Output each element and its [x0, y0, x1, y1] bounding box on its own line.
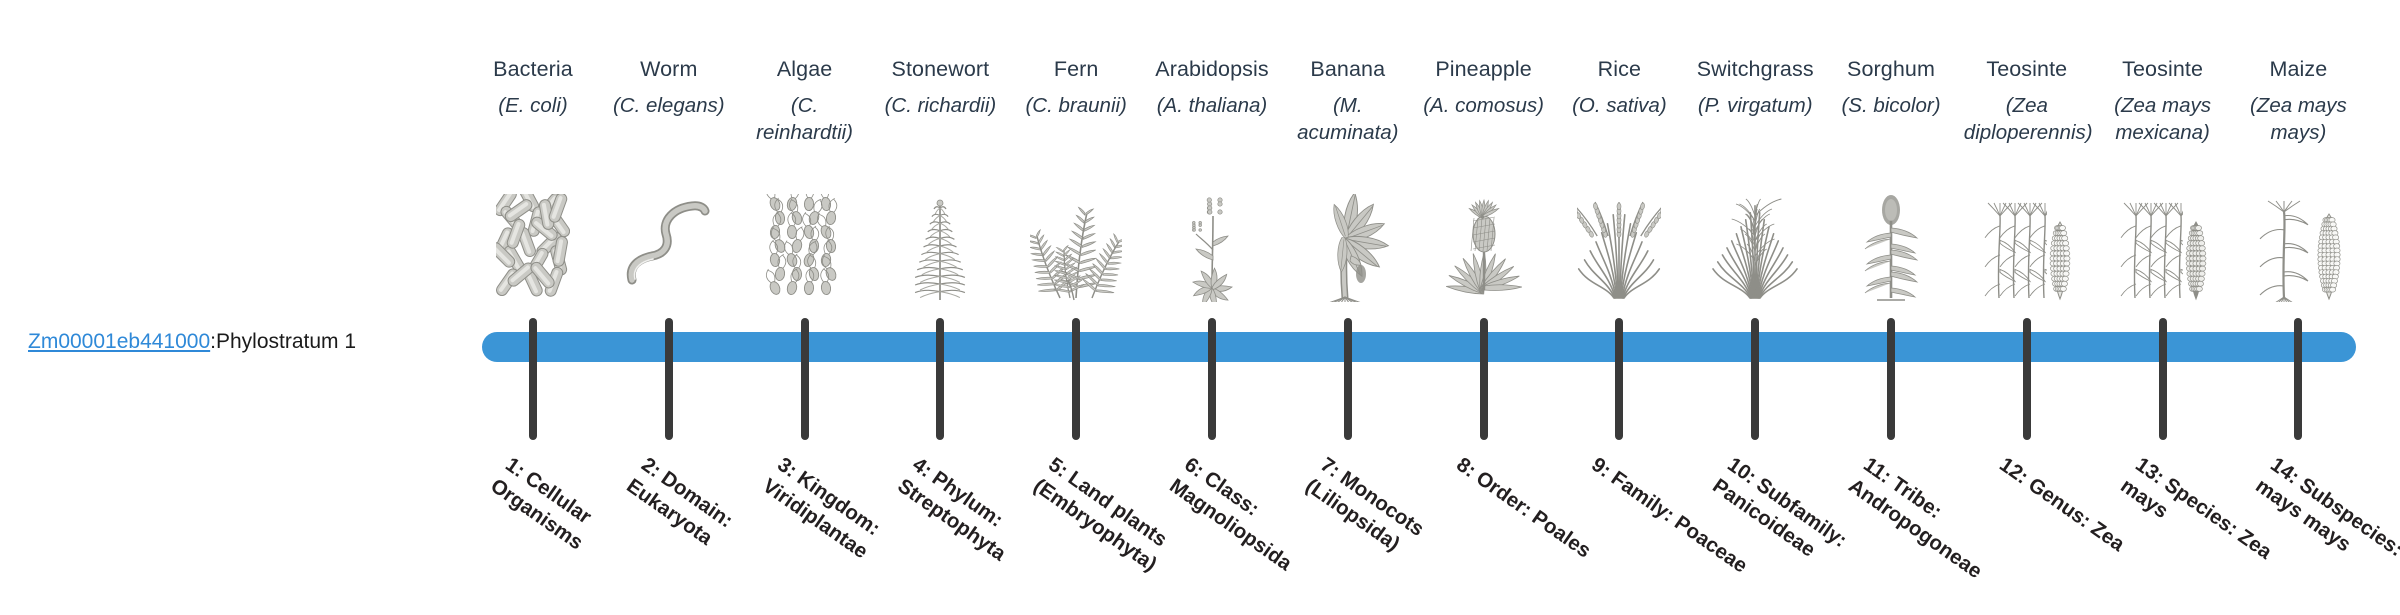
species-column-maize-13: Maize(Zea mays mays) [2235, 54, 2361, 146]
species-common-name: Banana [1285, 54, 1411, 84]
timeline-tick-8[interactable] [1480, 318, 1488, 440]
species-common-name: Worm [606, 54, 732, 84]
species-column-worm-1: Worm(C. elegans) [606, 54, 732, 119]
species-column-banana-6: Banana(M. acuminata) [1285, 54, 1411, 146]
timeline-tick-11[interactable] [1887, 318, 1895, 440]
organism-illustration-row [466, 172, 2366, 302]
teosinte-mexicana-illustration [2100, 172, 2226, 302]
species-scientific-name: (P. virgatum) [1692, 92, 1818, 119]
timeline-tick-10[interactable] [1751, 318, 1759, 440]
timeline-tick-14[interactable] [2294, 318, 2302, 440]
species-scientific-name: (C. elegans) [606, 92, 732, 119]
species-common-name: Stonewort [877, 54, 1003, 84]
species-common-name: Teosinte [1964, 54, 2090, 84]
species-common-name: Rice [1556, 54, 1682, 84]
worm-illustration [606, 172, 732, 302]
gene-id-link[interactable]: Zm00001eb441000 [28, 330, 210, 354]
timeline-tick-9[interactable] [1615, 318, 1623, 440]
species-column-pineapple-7: Pineapple(A. comosus) [1421, 54, 1547, 119]
stonewort-illustration [877, 172, 1003, 302]
sorghum-illustration [1828, 172, 1954, 302]
rice-illustration [1556, 172, 1682, 302]
bacteria-illustration [470, 172, 596, 302]
species-scientific-name: (O. sativa) [1556, 92, 1682, 119]
species-common-name: Algae [742, 54, 868, 84]
phylostratum-value: Phylostratum 1 [216, 330, 356, 354]
species-common-name: Pineapple [1421, 54, 1547, 84]
arabidopsis-illustration [1149, 172, 1275, 302]
species-column-sorghum-10: Sorghum(S. bicolor) [1828, 54, 1954, 119]
timeline-tick-7[interactable] [1344, 318, 1352, 440]
species-column-algae-2: Algae(C. reinhardtii) [742, 54, 868, 146]
timeline-tick-12[interactable] [2023, 318, 2031, 440]
species-common-name: Switchgrass [1692, 54, 1818, 84]
switchgrass-illustration [1692, 172, 1818, 302]
species-common-name: Teosinte [2100, 54, 2226, 84]
species-scientific-name: (A. thaliana) [1149, 92, 1275, 119]
species-scientific-name: (C. richardii) [877, 92, 1003, 119]
species-common-name: Sorghum [1828, 54, 1954, 84]
species-column-bacteria-0: Bacteria(E. coli) [470, 54, 596, 119]
species-column-stonewort-3: Stonewort(C. richardii) [877, 54, 1003, 119]
pineapple-illustration [1421, 172, 1547, 302]
timeline-tick-5[interactable] [1072, 318, 1080, 440]
teosinte-diploperennis-illustration [1964, 172, 2090, 302]
fern-illustration [1013, 172, 1139, 302]
species-scientific-name: (E. coli) [470, 92, 596, 119]
phylostratum-timeline-bar[interactable] [482, 332, 2356, 362]
phylostratum-figure: Zm00001eb441000: Phylostratum 1 Bacteria… [0, 0, 2400, 580]
timeline-tick-4[interactable] [936, 318, 944, 440]
species-scientific-name: (M. acuminata) [1285, 92, 1411, 146]
species-column-teosinte-12: Teosinte(Zea mays mexicana) [2100, 54, 2226, 146]
species-scientific-name: (C. reinhardtii) [742, 92, 868, 146]
timeline-tick-13[interactable] [2159, 318, 2167, 440]
species-common-name: Arabidopsis [1149, 54, 1275, 84]
species-column-teosinte-11: Teosinte(Zea diploperennis) [1964, 54, 2090, 146]
timeline-tick-1[interactable] [529, 318, 537, 440]
species-scientific-name: (A. comosus) [1421, 92, 1547, 119]
species-common-name: Maize [2235, 54, 2361, 84]
species-header-row: Bacteria(E. coli)Worm(C. elegans)Algae(C… [466, 54, 2366, 174]
species-column-rice-8: Rice(O. sativa) [1556, 54, 1682, 119]
species-scientific-name: (Zea mays mays) [2235, 92, 2361, 146]
species-column-switchgrass-9: Switchgrass(P. virgatum) [1692, 54, 1818, 119]
species-scientific-name: (Zea mays mexicana) [2100, 92, 2226, 146]
species-column-arabidopsis-5: Arabidopsis(A. thaliana) [1149, 54, 1275, 119]
maize-illustration [2235, 172, 2361, 302]
algae-illustration [742, 172, 868, 302]
timeline-tick-2[interactable] [665, 318, 673, 440]
gene-phylostratum-label: Zm00001eb441000: Phylostratum 1 [28, 325, 468, 359]
species-common-name: Fern [1013, 54, 1139, 84]
species-column-fern-4: Fern(C. braunii) [1013, 54, 1139, 119]
species-scientific-name: (C. braunii) [1013, 92, 1139, 119]
species-scientific-name: (Zea diploperennis) [1964, 92, 2090, 146]
timeline-tick-6[interactable] [1208, 318, 1216, 440]
timeline-tick-3[interactable] [801, 318, 809, 440]
species-scientific-name: (S. bicolor) [1828, 92, 1954, 119]
species-common-name: Bacteria [470, 54, 596, 84]
banana-illustration [1285, 172, 1411, 302]
